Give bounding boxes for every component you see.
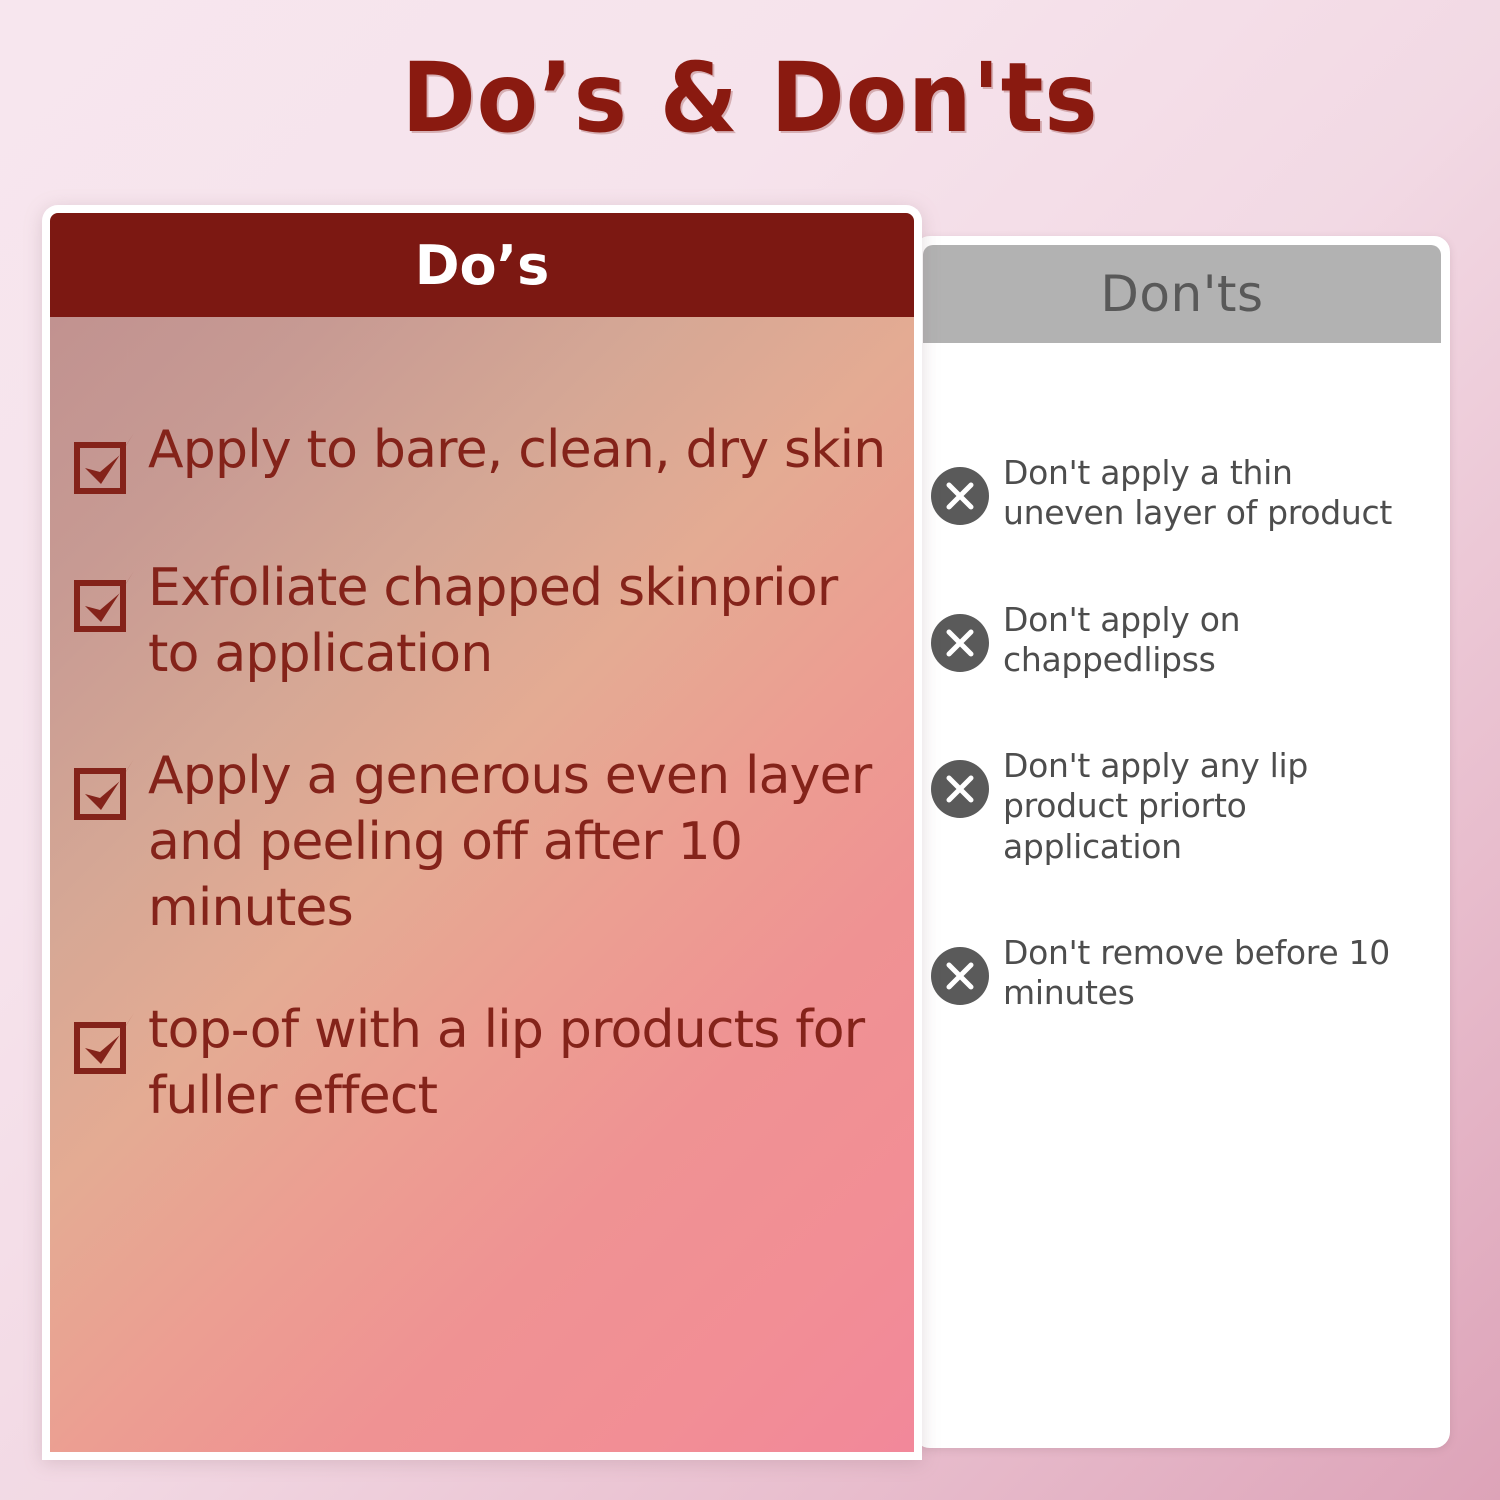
dos-panel: Do’s Apply to bare, clean, dry skin Exfo…: [42, 205, 922, 1460]
list-item: Apply a generous even layer and peeling …: [72, 743, 892, 941]
checkbox-check-icon: [72, 1007, 144, 1079]
circle-x-icon: [931, 614, 989, 672]
list-item: Apply to bare, clean, dry skin: [72, 417, 892, 499]
donts-panel: Don'ts Don't apply a thin uneven layer o…: [914, 236, 1450, 1448]
list-item-label: Don't remove before 10 minutes: [1003, 933, 1415, 1014]
donts-list: Don't apply a thin uneven layer of produ…: [923, 343, 1441, 1439]
circle-x-icon: [931, 760, 989, 818]
page-title: Do’s & Don'ts: [53, 42, 1448, 154]
dos-list: Apply to bare, clean, dry skin Exfoliate…: [42, 317, 922, 1460]
list-item: Don't apply a thin uneven layer of produ…: [931, 453, 1415, 534]
list-item-label: Apply to bare, clean, dry skin: [148, 417, 885, 483]
checkbox-check-icon: [72, 565, 144, 637]
list-item: Don't remove before 10 minutes: [931, 933, 1415, 1014]
list-item: top-of with a lip products for fuller ef…: [72, 997, 892, 1129]
circle-x-icon: [931, 467, 989, 525]
checkbox-check-icon: [72, 753, 144, 825]
dos-header-label: Do’s: [415, 234, 550, 297]
list-item-label: top-of with a lip products for fuller ef…: [148, 997, 892, 1129]
list-item-label: Exfoliate chapped skinprior to applicati…: [148, 555, 892, 687]
list-item-label: Don't apply a thin uneven layer of produ…: [1003, 453, 1415, 534]
list-item-label: Don't apply on chappedlipss: [1003, 600, 1415, 681]
checkbox-check-icon: [72, 427, 144, 499]
list-item: Don't apply on chappedlipss: [931, 600, 1415, 681]
list-item-label: Don't apply any lip product priorto appl…: [1003, 746, 1415, 867]
donts-panel-header: Don'ts: [923, 245, 1441, 343]
donts-header-label: Don'ts: [1100, 265, 1263, 323]
list-item: Don't apply any lip product priorto appl…: [931, 746, 1415, 867]
dos-panel-header: Do’s: [42, 205, 922, 317]
list-item-label: Apply a generous even layer and peeling …: [148, 743, 892, 941]
list-item: Exfoliate chapped skinprior to applicati…: [72, 555, 892, 687]
circle-x-icon: [931, 947, 989, 1005]
